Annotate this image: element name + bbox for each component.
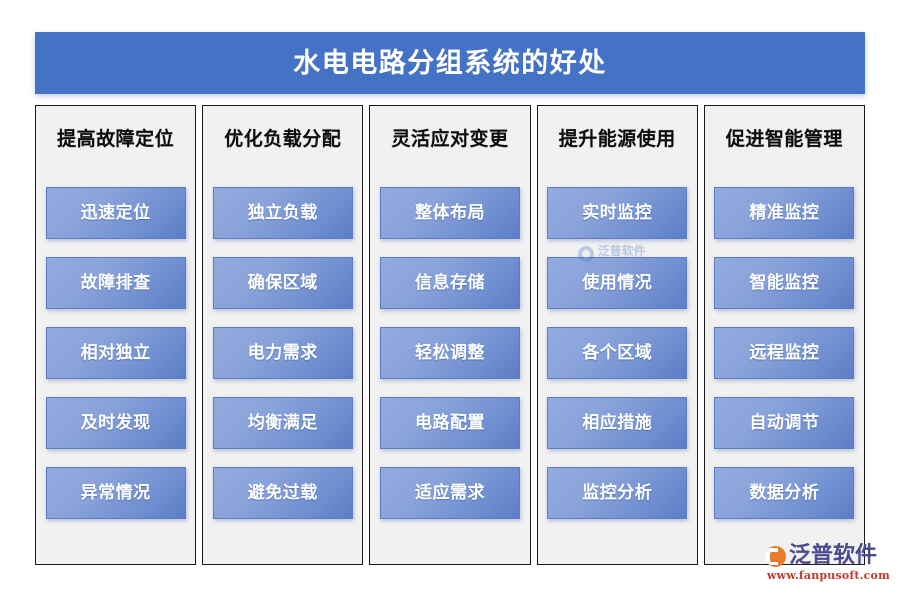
pill-item[interactable]: 使用情况 — [547, 257, 687, 309]
logo-website-url: www.fanpusoft.com — [767, 569, 890, 582]
column-header-3: 灵活应对变更 — [392, 130, 509, 149]
pill-item[interactable]: 精准监控 — [714, 187, 854, 239]
pill-item[interactable]: 确保区域 — [213, 257, 353, 309]
pill-item[interactable]: 相对独立 — [46, 327, 186, 379]
column-header-1: 提高故障定位 — [57, 130, 174, 149]
pill-item[interactable]: 及时发现 — [46, 397, 186, 449]
column-card-1[interactable]: 提高故障定位 迅速定位 故障排查 相对独立 及时发现 异常情况 — [35, 105, 196, 565]
pill-item[interactable]: 轻松调整 — [380, 327, 520, 379]
pill-item[interactable]: 自动调节 — [714, 397, 854, 449]
pill-item[interactable]: 各个区域 — [547, 327, 687, 379]
pill-item[interactable]: 信息存储 — [380, 257, 520, 309]
pill-list-1: 迅速定位 故障排查 相对独立 及时发现 异常情况 — [36, 187, 195, 519]
pill-item[interactable]: 整体布局 — [380, 187, 520, 239]
pill-item[interactable]: 监控分析 — [547, 467, 687, 519]
column-header-4: 提升能源使用 — [559, 130, 676, 149]
column-header-2: 优化负载分配 — [224, 130, 341, 149]
page-title: 水电电路分组系统的好处 — [293, 50, 607, 77]
pill-item[interactable]: 异常情况 — [46, 467, 186, 519]
logo-company-name: 泛普软件 — [789, 545, 877, 567]
column-card-3[interactable]: 灵活应对变更 整体布局 信息存储 轻松调整 电路配置 适应需求 — [369, 105, 530, 565]
corporate-logo: 泛普软件 www.fanpusoft.com — [765, 545, 895, 582]
pill-item[interactable]: 相应措施 — [547, 397, 687, 449]
pill-item[interactable]: 数据分析 — [714, 467, 854, 519]
pill-item[interactable]: 适应需求 — [380, 467, 520, 519]
pill-item[interactable]: 均衡满足 — [213, 397, 353, 449]
column-card-4[interactable]: 提升能源使用 实时监控 使用情况 各个区域 相应措施 监控分析 泛普软件 FAN… — [537, 105, 698, 565]
column-card-2[interactable]: 优化负载分配 独立负载 确保区域 电力需求 均衡满足 避免过载 — [202, 105, 363, 565]
pill-list-4: 实时监控 使用情况 各个区域 相应措施 监控分析 — [538, 187, 697, 519]
infographic-page: 水电电路分组系统的好处 提高故障定位 迅速定位 故障排查 相对独立 及时发现 异… — [0, 0, 900, 600]
pill-item[interactable]: 电路配置 — [380, 397, 520, 449]
pill-item[interactable]: 智能监控 — [714, 257, 854, 309]
pill-list-3: 整体布局 信息存储 轻松调整 电路配置 适应需求 — [370, 187, 529, 519]
pill-item[interactable]: 故障排查 — [46, 257, 186, 309]
pill-item[interactable]: 迅速定位 — [46, 187, 186, 239]
logo-row: 泛普软件 — [765, 545, 877, 567]
pill-list-5: 精准监控 智能监控 远程监控 自动调节 数据分析 — [705, 187, 864, 519]
fanpu-circle-icon — [765, 546, 786, 567]
column-card-5[interactable]: 促进智能管理 精准监控 智能监控 远程监控 自动调节 数据分析 — [704, 105, 865, 565]
pill-item[interactable]: 实时监控 — [547, 187, 687, 239]
title-banner: 水电电路分组系统的好处 — [35, 32, 865, 94]
column-header-5: 促进智能管理 — [726, 130, 843, 149]
pill-item[interactable]: 避免过载 — [213, 467, 353, 519]
pill-item[interactable]: 电力需求 — [213, 327, 353, 379]
pill-list-2: 独立负载 确保区域 电力需求 均衡满足 避免过载 — [203, 187, 362, 519]
pill-item[interactable]: 远程监控 — [714, 327, 854, 379]
columns-container: 提高故障定位 迅速定位 故障排查 相对独立 及时发现 异常情况 优化负载分配 独… — [35, 105, 865, 565]
pill-item[interactable]: 独立负载 — [213, 187, 353, 239]
